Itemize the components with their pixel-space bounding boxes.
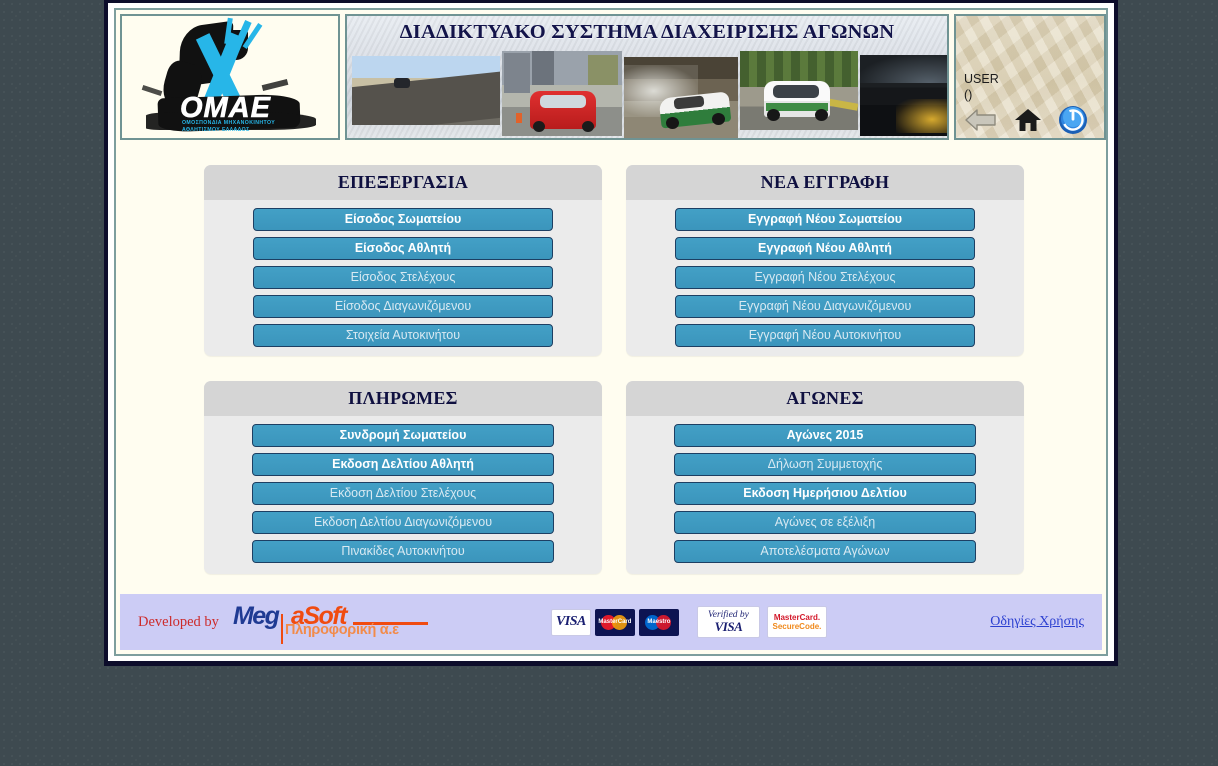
user-name-value: () (964, 88, 972, 102)
developed-by-label: Developed by (138, 614, 219, 631)
button-pinakides-aftokinitou[interactable]: Πινακίδες Αυτοκινήτου (252, 540, 554, 563)
help-link[interactable]: Οδηγίες Χρήσης (990, 614, 1084, 630)
user-panel: USER () (954, 14, 1106, 140)
button-eggrafi-neou-stelechous[interactable]: Εγγραφή Νέου Στελέχους (675, 266, 975, 289)
photo-red-rally-car (502, 51, 622, 136)
omae-logo-box: ΟΜΑΕ ΟΜΟΣΠΟΝΔΙΑ ΜΗΧΑΝΟΚΙΝΗΤΟΥ ΑΘΛΗΤΙΣΜΟΥ… (120, 14, 340, 140)
photo-night-stage (860, 55, 949, 136)
page-title: ΔΙΑΔΙΚΤΥΑΚΟ ΣΥΣΤΗΜΑ ΔΙΑΧΕΙΡΙΣΗΣ ΑΓΩΝΩΝ (347, 21, 947, 44)
mastercard-logo: MasterCard (595, 609, 635, 636)
megasoft-logo: Meg aSoft Πληροφορική α.ε (233, 600, 433, 644)
page-header: ΟΜΑΕ ΟΜΟΣΠΟΝΔΙΑ ΜΗΧΑΝΟΚΙΝΗΤΟΥ ΑΘΛΗΤΙΣΜΟΥ… (120, 14, 1106, 140)
menu-panels: ΕΠΕΞΕΡΓΑΣΙΑ Είσοδος Σωματείου Είσοδος Αθ… (204, 165, 1024, 599)
button-stoicheia-aftokinitou[interactable]: Στοιχεία Αυτοκινήτου (253, 324, 553, 347)
button-apotelesmata-agonon[interactable]: Αποτελέσματα Αγώνων (674, 540, 976, 563)
panel-title: ΝΕΑ ΕΓΓΡΑΦΗ (626, 165, 1024, 200)
megasoft-vertical-bar (281, 614, 284, 644)
button-dilosi-symmetochis[interactable]: Δήλωση Συμμετοχής (674, 453, 976, 476)
omae-subtitle: ΟΜΟΣΠΟΝΔΙΑ ΜΗΧΑΝΟΚΙΝΗΤΟΥ ΑΘΛΗΤΙΣΜΟΥ ΕΛΛΑ… (182, 120, 302, 133)
panel-epexergasia: ΕΠΕΞΕΡΓΑΣΙΑ Είσοδος Σωματείου Είσοδος Αθ… (204, 165, 602, 356)
mastercard-securecode-logo: MasterCard. SecureCode. (767, 606, 827, 638)
button-eggrafi-neou-athliti[interactable]: Εγγραφή Νέου Αθλητή (675, 237, 975, 260)
button-ekdosi-imerisiou-deltiou[interactable]: Εκδοση Ημερήσιου Δελτίου (674, 482, 976, 505)
rally-photo-strip (352, 51, 942, 136)
verified-by-visa-logo: Verified by VISA (697, 606, 760, 638)
panel-title: ΑΓΩΝΕΣ (626, 381, 1024, 416)
button-agones-2015[interactable]: Αγώνες 2015 (674, 424, 976, 447)
visa-logo: VISA (551, 609, 591, 636)
button-eisodos-somateiou[interactable]: Είσοδος Σωματείου (253, 208, 553, 231)
omae-logo-icon: ΟΜΑΕ ΟΜΟΣΠΟΝΔΙΑ ΜΗΧΑΝΟΚΙΝΗΤΟΥ ΑΘΛΗΤΙΣΜΟΥ… (122, 16, 338, 138)
page-footer: Developed by Meg aSoft Πληροφορική α.ε V… (120, 594, 1102, 650)
user-label: USER (964, 72, 999, 86)
page-canvas: ΟΜΑΕ ΟΜΟΣΠΟΝΔΙΑ ΜΗΧΑΝΟΚΙΝΗΤΟΥ ΑΘΛΗΤΙΣΜΟΥ… (114, 8, 1108, 656)
panel-row-bottom: ΠΛΗΡΩΜΕΣ Συνδρομή Σωματείου Εκδοση Δελτί… (204, 381, 1024, 574)
banner-box: ΔΙΑΔΙΚΤΥΑΚΟ ΣΥΣΤΗΜΑ ΔΙΑΧΕΙΡΙΣΗΣ ΑΓΩΝΩΝ (345, 14, 949, 140)
button-ekdosi-deltiou-athliti[interactable]: Εκδοση Δελτίου Αθλητή (252, 453, 554, 476)
power-icon[interactable] (1058, 105, 1088, 135)
photo-green-rally-car-dust (624, 57, 738, 140)
button-eggrafi-neou-somateiou[interactable]: Εγγραφή Νέου Σωματείου (675, 208, 975, 231)
payment-logos: VISA MasterCard Maestro Verified by VISA… (551, 606, 827, 638)
panel-agones: ΑΓΩΝΕΣ Αγώνες 2015 Δήλωση Συμμετοχής Εκδ… (626, 381, 1024, 574)
button-eisodos-stelechous[interactable]: Είσοδος Στελέχους (253, 266, 553, 289)
megasoft-subtitle: Πληροφορική α.ε (285, 622, 399, 638)
panel-nea-eggrafi: ΝΕΑ ΕΓΓΡΑΦΗ Εγγραφή Νέου Σωματείου Εγγρα… (626, 165, 1024, 356)
button-agones-se-exelixi[interactable]: Αγώνες σε εξέλιξη (674, 511, 976, 534)
panel-title: ΕΠΕΞΕΡΓΑΣΙΑ (204, 165, 602, 200)
browser-window: ΟΜΑΕ ΟΜΟΣΠΟΝΔΙΑ ΜΗΧΑΝΟΚΙΝΗΤΟΥ ΑΘΛΗΤΙΣΜΟΥ… (104, 0, 1118, 666)
megasoft-part1: Meg (233, 602, 279, 631)
panel-title: ΠΛΗΡΩΜΕΣ (204, 381, 602, 416)
photo-white-rally-car (740, 51, 858, 130)
browser-viewport: ΟΜΑΕ ΟΜΟΣΠΟΝΔΙΑ ΜΗΧΑΝΟΚΙΝΗΤΟΥ ΑΘΛΗΤΙΣΜΟΥ… (108, 3, 1114, 661)
maestro-logo: Maestro (639, 609, 679, 636)
button-eggrafi-neou-aftokinitou[interactable]: Εγγραφή Νέου Αυτοκινήτου (675, 324, 975, 347)
home-icon[interactable] (1014, 107, 1042, 133)
button-ekdosi-deltiou-stelechous[interactable]: Εκδοση Δελτίου Στελέχους (252, 482, 554, 505)
button-eggrafi-neou-diagonizomenou[interactable]: Εγγραφή Νέου Διαγωνιζόμενου (675, 295, 975, 318)
button-syndromi-somateiou[interactable]: Συνδρομή Σωματείου (252, 424, 554, 447)
button-eisodos-diagonizomenou[interactable]: Είσοδος Διαγωνιζόμενου (253, 295, 553, 318)
button-ekdosi-deltiou-diagonizomenou[interactable]: Εκδοση Δελτίου Διαγωνιζόμενου (252, 511, 554, 534)
back-arrow-icon[interactable] (964, 105, 998, 135)
panel-pliromes: ΠΛΗΡΩΜΕΣ Συνδρομή Σωματείου Εκδοση Δελτί… (204, 381, 602, 574)
panel-row-top: ΕΠΕΞΕΡΓΑΣΙΑ Είσοδος Σωματείου Είσοδος Αθ… (204, 165, 1024, 356)
button-eisodos-athliti[interactable]: Είσοδος Αθλητή (253, 237, 553, 260)
photo-road (352, 56, 500, 125)
